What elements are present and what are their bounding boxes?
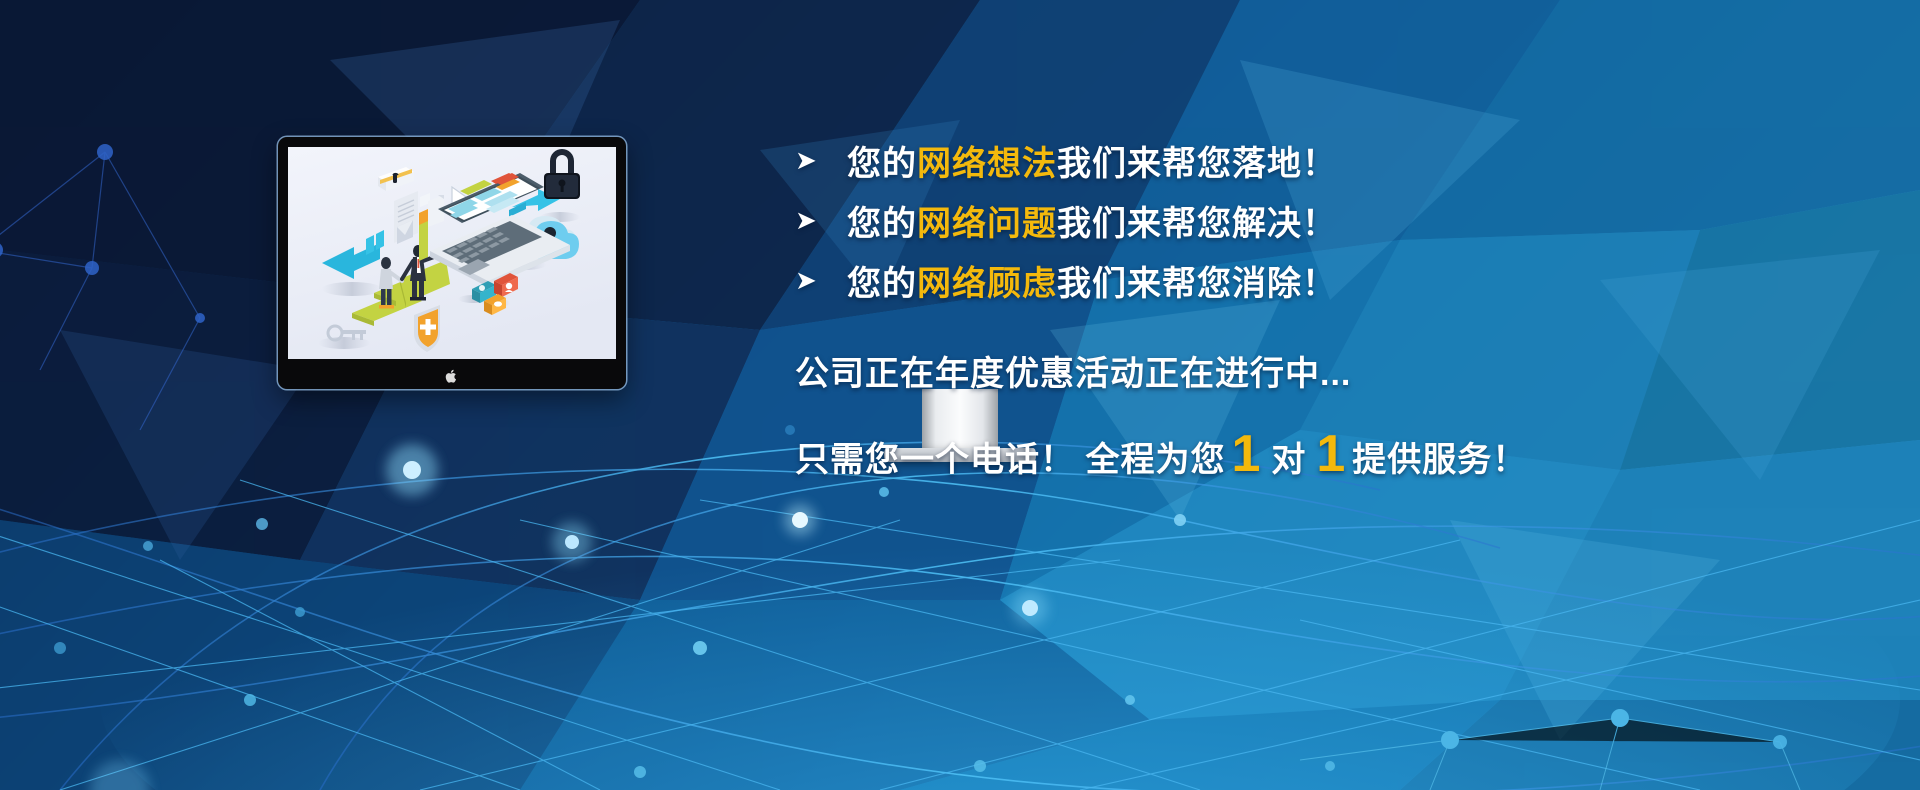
bullet-3-prefix: 您的: [847, 265, 917, 303]
bullet-row-3: ➤ 您的网络顾虑我们来帮您消除！: [795, 250, 1795, 310]
bullet-3-highlight: 网络顾虑: [917, 265, 1057, 303]
isometric-illustration: [288, 147, 616, 359]
call-part-2: 提供服务！: [1352, 432, 1527, 481]
call-to-action-line: 只需您一个电话！ 全程为您 1 对 1 提供服务！: [795, 431, 1795, 481]
monitor-screen: [288, 147, 616, 359]
bullet-1-prefix: 您的: [847, 145, 917, 183]
call-middle: 对: [1267, 432, 1310, 481]
bullet-2-highlight: 网络问题: [917, 205, 1057, 243]
bullet-3-suffix: 我们来帮您消除！: [1057, 265, 1337, 303]
bullet-1-highlight: 网络想法: [917, 145, 1057, 183]
number-one-first: 1: [1225, 431, 1267, 478]
call-part-1: 只需您一个电话！ 全程为您: [795, 432, 1225, 481]
arrow-bullet-icon: ➤: [795, 147, 847, 173]
apple-logo-icon: [446, 369, 459, 384]
bullet-2-prefix: 您的: [847, 205, 917, 243]
monitor-mockup: [278, 137, 626, 389]
promo-banner: ➤ 您的网络想法我们来帮您落地！ ➤ 您的网络问题我们来帮您解决！ ➤ 您的网络…: [0, 0, 1920, 790]
promo-line: 公司正在年度优惠活动正在进行中...: [795, 346, 1795, 395]
bullet-row-1: ➤ 您的网络想法我们来帮您落地！: [795, 130, 1795, 190]
copy-block: ➤ 您的网络想法我们来帮您落地！ ➤ 您的网络问题我们来帮您解决！ ➤ 您的网络…: [795, 130, 1795, 481]
bullet-2-suffix: 我们来帮您解决！: [1057, 205, 1337, 243]
bullet-line-3: 您的网络顾虑我们来帮您消除！: [847, 256, 1337, 305]
bullet-1-suffix: 我们来帮您落地！: [1057, 145, 1337, 183]
bullet-row-2: ➤ 您的网络问题我们来帮您解决！: [795, 190, 1795, 250]
bullet-line-1: 您的网络想法我们来帮您落地！: [847, 136, 1337, 185]
arrow-bullet-icon: ➤: [795, 267, 847, 293]
bullet-line-2: 您的网络问题我们来帮您解决！: [847, 196, 1337, 245]
arrow-bullet-icon: ➤: [795, 207, 847, 233]
number-one-second: 1: [1310, 431, 1352, 478]
